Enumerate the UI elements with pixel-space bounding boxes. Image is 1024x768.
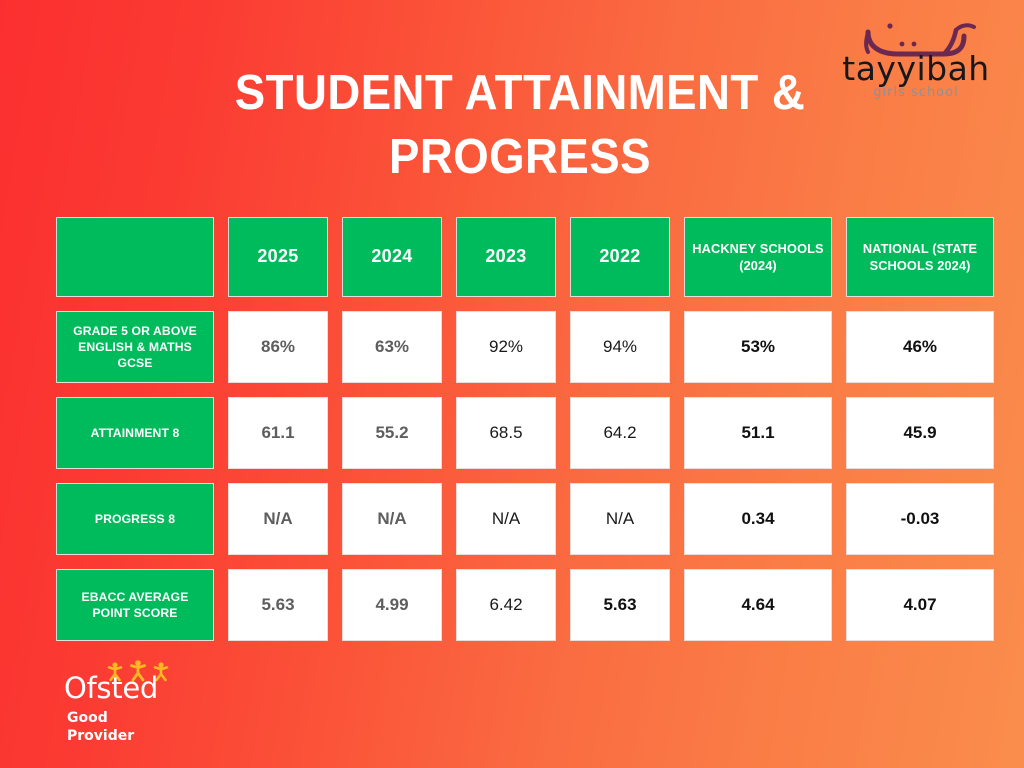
column-header-national-state-schools: NATIONAL (STATE SCHOOLS 2024) [846,217,994,297]
cell-progress8-2025: N/A [228,483,328,555]
cell-ebacc-2022: 5.63 [570,569,670,641]
cell-grade5-2023: 92% [456,311,556,383]
cell-ebacc-hackney: 4.64 [684,569,832,641]
slide-canvas: STUDENT ATTAINMENT & PROGRESS tayyibah g… [0,0,1024,768]
cell-grade5-2025: 86% [228,311,328,383]
table-row: EBACC AVERAGE POINT SCORE 5.63 4.99 6.42… [56,569,968,641]
cell-grade5-hackney: 53% [684,311,832,383]
cell-ebacc-2023: 6.42 [456,569,556,641]
logo-wordmark: tayyibah [832,52,1000,85]
row-label-progress-8: PROGRESS 8 [56,483,214,555]
column-header-hackney-schools: HACKNEY SCHOOLS (2024) [684,217,832,297]
ofsted-badge: Ofsted Good Provider [64,660,224,752]
cell-grade5-national: 46% [846,311,994,383]
cell-attainment8-2022: 64.2 [570,397,670,469]
cell-progress8-national: -0.03 [846,483,994,555]
table-row: GRADE 5 OR ABOVE ENGLISH & MATHS GCSE 86… [56,311,968,383]
column-header-2022: 2022 [570,217,670,297]
logo-tagline: girls school [832,86,1000,99]
row-label-attainment-8: ATTAINMENT 8 [56,397,214,469]
table-header-row: 2025 2024 2023 2022 HACKNEY SCHOOLS (202… [56,217,968,297]
column-header-2024: 2024 [342,217,442,297]
cell-attainment8-national: 45.9 [846,397,994,469]
row-label-ebacc-average-point-score: EBACC AVERAGE POINT SCORE [56,569,214,641]
table-row: ATTAINMENT 8 61.1 55.2 68.5 64.2 51.1 45… [56,397,968,469]
attainment-table: 2025 2024 2023 2022 HACKNEY SCHOOLS (202… [56,217,968,641]
cell-attainment8-2024: 55.2 [342,397,442,469]
cell-attainment8-2025: 61.1 [228,397,328,469]
cell-grade5-2024: 63% [342,311,442,383]
cell-ebacc-2025: 5.63 [228,569,328,641]
cell-ebacc-2024: 4.99 [342,569,442,641]
cell-grade5-2022: 94% [570,311,670,383]
column-header-2025: 2025 [228,217,328,297]
cell-progress8-2024: N/A [342,483,442,555]
cell-attainment8-hackney: 51.1 [684,397,832,469]
table-corner-cell [56,217,214,297]
column-header-2023: 2023 [456,217,556,297]
ofsted-rating-label: Good Provider [67,710,134,745]
cell-progress8-2022: N/A [570,483,670,555]
cell-attainment8-2023: 68.5 [456,397,556,469]
table-row: PROGRESS 8 N/A N/A N/A N/A 0.34 -0.03 [56,483,968,555]
tayyibah-logo: tayyibah girls school [832,24,1000,110]
row-label-grade-5-or-above: GRADE 5 OR ABOVE ENGLISH & MATHS GCSE [56,311,214,383]
cell-ebacc-national: 4.07 [846,569,994,641]
cell-progress8-hackney: 0.34 [684,483,832,555]
ofsted-wordmark: Ofsted [64,674,158,703]
page-title: STUDENT ATTAINMENT & PROGRESS [185,62,855,189]
cell-progress8-2023: N/A [456,483,556,555]
